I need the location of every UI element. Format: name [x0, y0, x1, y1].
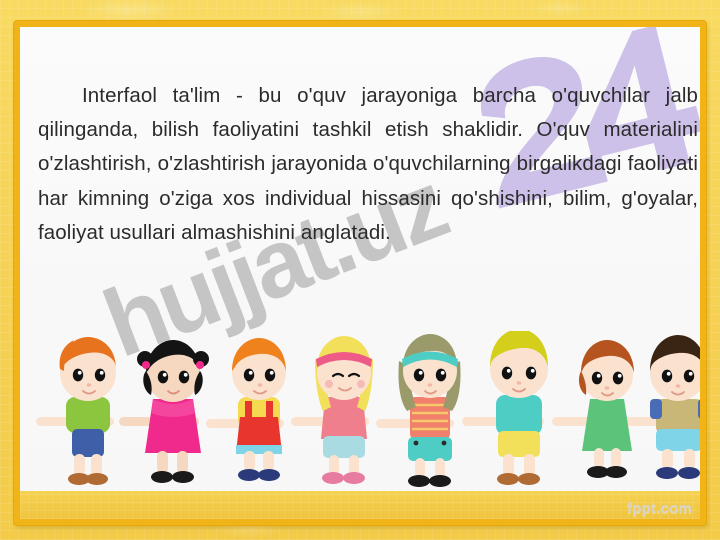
body-paragraph: Interfaol ta'lim - bu o'quv jarayoniga b… [38, 79, 698, 250]
slide-canvas: hujjat.uz Interfaol ta'lim - bu o'quv ja… [0, 0, 720, 540]
slide-frame-border: hujjat.uz Interfaol ta'lim - bu o'quv ja… [14, 21, 706, 525]
fppt-logo: fppt.com [627, 500, 692, 517]
content-panel: hujjat.uz Interfaol ta'lim - bu o'quv ja… [20, 27, 700, 519]
children-illustration [20, 331, 700, 501]
